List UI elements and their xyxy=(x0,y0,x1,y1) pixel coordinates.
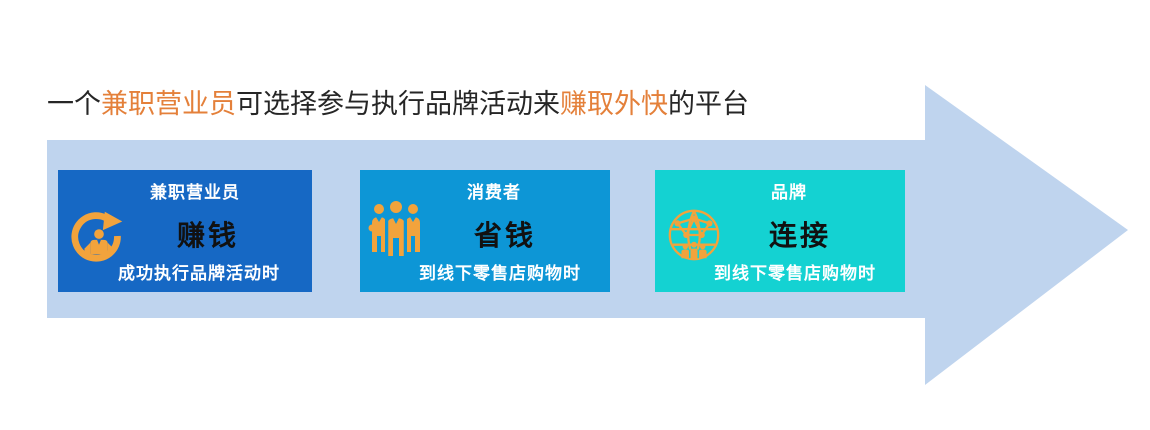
headline-segment-1: 一个 xyxy=(47,89,101,119)
card-consumer[interactable]: 消费者 省钱 到线下零售店购物时 xyxy=(360,170,610,292)
card-part-time-clerk[interactable]: 兼职营业员 赚钱 成功执行品牌活动时 xyxy=(58,170,312,292)
card-footer-label: 到线下零售店购物时 xyxy=(685,259,905,284)
card-footer-label: 到线下零售店购物时 xyxy=(390,259,610,284)
slide-canvas: 一个兼职营业员可选择参与执行品牌活动来赚取外快的平台 兼职营业员 赚钱 成功执行… xyxy=(0,0,1150,430)
card-header-label: 兼职营业员 xyxy=(78,178,312,203)
headline-segment-2: 可选择参与执行品牌活动来 xyxy=(236,89,560,119)
headline-highlight-2: 赚取外快 xyxy=(560,89,668,119)
headline-highlight-1: 兼职营业员 xyxy=(101,89,236,119)
page-title: 一个兼职营业员可选择参与执行品牌活动来赚取外快的平台 xyxy=(47,86,749,122)
card-main-label: 连接 xyxy=(695,214,905,254)
card-header-label: 品牌 xyxy=(673,178,905,203)
card-brand[interactable]: 品牌 xyxy=(655,170,905,292)
card-footer-label: 成功执行品牌活动时 xyxy=(86,259,312,284)
card-main-label: 赚钱 xyxy=(104,214,312,254)
headline-segment-3: 的平台 xyxy=(668,89,749,119)
card-main-label: 省钱 xyxy=(400,214,610,254)
